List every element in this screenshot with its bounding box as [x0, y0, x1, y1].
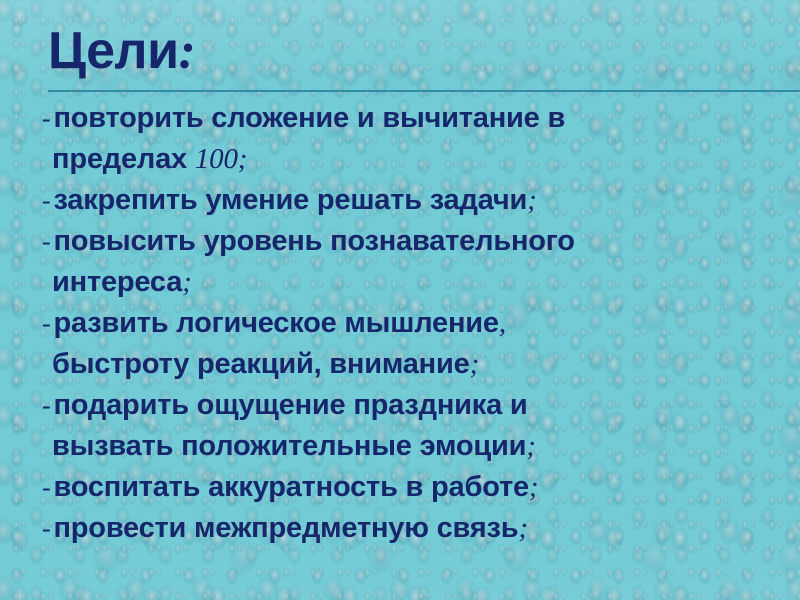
slide-content: Цели: -повторить сложение и вычитание вп… — [0, 0, 800, 600]
goal-punctuation: ; — [527, 184, 536, 216]
goal-item: -развить логическое мышление, — [0, 303, 800, 344]
goal-punctuation: ; — [518, 512, 527, 544]
goal-item: -провести межпредметную связь; — [0, 508, 800, 549]
goal-text: провести межпредметную связь — [53, 512, 518, 544]
bullet-dash-icon: - — [42, 514, 53, 543]
goal-item: -повысить уровень познавательного — [0, 221, 800, 262]
goal-number-value: 100 — [195, 143, 238, 175]
goal-text: подарить ощущение праздника и — [53, 389, 527, 421]
slide-title-colon: : — [179, 23, 196, 80]
goal-punctuation: , — [499, 307, 506, 339]
slide-title-text: Цели — [48, 22, 179, 80]
goal-punctuation: ; — [182, 266, 191, 298]
bullet-dash-icon: - — [42, 391, 53, 420]
goal-text: вызвать положительные эмоции — [52, 430, 526, 462]
goal-text: интереса — [52, 266, 182, 298]
goal-text: развить логическое мышление — [53, 307, 498, 339]
goal-text: быстроту реакций, внимание — [52, 348, 470, 380]
goal-text: закрепить умение решать задачи — [53, 184, 527, 216]
goal-punctuation: ; — [470, 348, 479, 380]
bullet-dash-icon: - — [42, 227, 53, 256]
bullet-dash-icon: - — [42, 309, 53, 338]
bullet-dash-icon: - — [42, 186, 53, 215]
goal-item-continuation: пределах 100; — [0, 139, 800, 180]
goal-text: повторить сложение и вычитание в — [53, 102, 565, 134]
goal-text: пределах — [52, 143, 195, 175]
goal-item-continuation: интереса; — [0, 262, 800, 303]
goal-item-continuation: быстроту реакций, внимание; — [0, 344, 800, 385]
title-divider-rule — [48, 90, 800, 92]
goal-text: воспитать аккуратность в работе — [53, 471, 528, 503]
goal-text: повысить уровень познавательного — [53, 225, 574, 257]
goal-punctuation: ; — [238, 143, 247, 175]
goal-punctuation: ; — [529, 471, 538, 503]
goals-list: -повторить сложение и вычитание впредела… — [0, 98, 800, 549]
goal-item-continuation: вызвать положительные эмоции; — [0, 426, 800, 467]
goal-item: -воспитать аккуратность в работе; — [0, 467, 800, 508]
bullet-dash-icon: - — [42, 104, 53, 133]
goal-punctuation: ; — [526, 430, 535, 462]
slide: Цели: -повторить сложение и вычитание вп… — [0, 0, 800, 600]
slide-title: Цели: — [48, 22, 195, 81]
goal-item: -подарить ощущение праздника и — [0, 385, 800, 426]
goal-item: -повторить сложение и вычитание в — [0, 98, 800, 139]
bullet-dash-icon: - — [42, 473, 53, 502]
goal-item: -закрепить умение решать задачи; — [0, 180, 800, 221]
